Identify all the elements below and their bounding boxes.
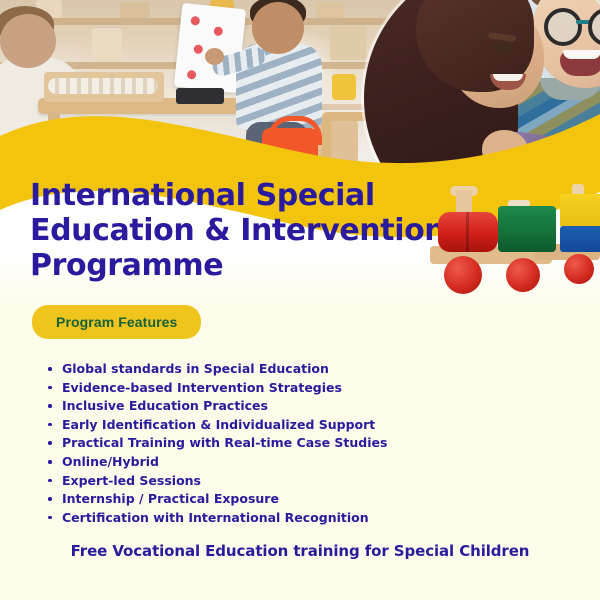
woman-teeth — [493, 74, 523, 81]
wooden-toy-train — [430, 188, 600, 298]
child-center-hand — [205, 48, 224, 65]
list-item: Internship / Practical Exposure — [44, 490, 524, 509]
shelf-item — [92, 28, 122, 60]
shelf-item — [330, 26, 366, 60]
poster-canvas: International Special Education & Interv… — [0, 0, 600, 600]
woman-eye — [492, 44, 512, 51]
eyeglasses-icon — [540, 8, 600, 38]
list-item: Inclusive Education Practices — [44, 397, 524, 416]
page-title: International Special Education & Interv… — [30, 178, 450, 283]
train-wheel — [444, 256, 482, 294]
train-wheel — [506, 258, 540, 292]
train-wheel — [564, 254, 594, 284]
train-block-yellow — [560, 194, 600, 228]
child-center-head — [252, 2, 304, 54]
tagline: Free Vocational Education training for S… — [0, 542, 600, 560]
features-list: Global standards in Special Education Ev… — [44, 360, 524, 527]
list-item: Practical Training with Real-time Case S… — [44, 434, 524, 453]
train-cab-green — [498, 206, 556, 252]
boy-teeth — [563, 50, 600, 59]
train-block-blue — [560, 226, 600, 252]
program-features-badge[interactable]: Program Features — [32, 305, 201, 339]
page-title-line-1: International Special — [30, 178, 450, 213]
list-item: Evidence-based Intervention Strategies — [44, 379, 524, 398]
shelf-item — [120, 2, 150, 18]
page-title-line-3: Programme — [30, 248, 450, 283]
train-boiler-seam — [466, 212, 469, 252]
shelf-item — [316, 2, 344, 18]
page-title-line-2: Education & Intervention — [30, 213, 450, 248]
child-left-head — [0, 14, 56, 68]
list-item: Early Identification & Individualized Su… — [44, 416, 524, 435]
list-item: Online/Hybrid — [44, 453, 524, 472]
list-item: Expert-led Sessions — [44, 472, 524, 491]
list-item: Certification with International Recogni… — [44, 509, 524, 528]
shelf-item-cup — [332, 74, 356, 100]
abacus-beads — [48, 78, 158, 94]
list-item: Global standards in Special Education — [44, 360, 524, 379]
